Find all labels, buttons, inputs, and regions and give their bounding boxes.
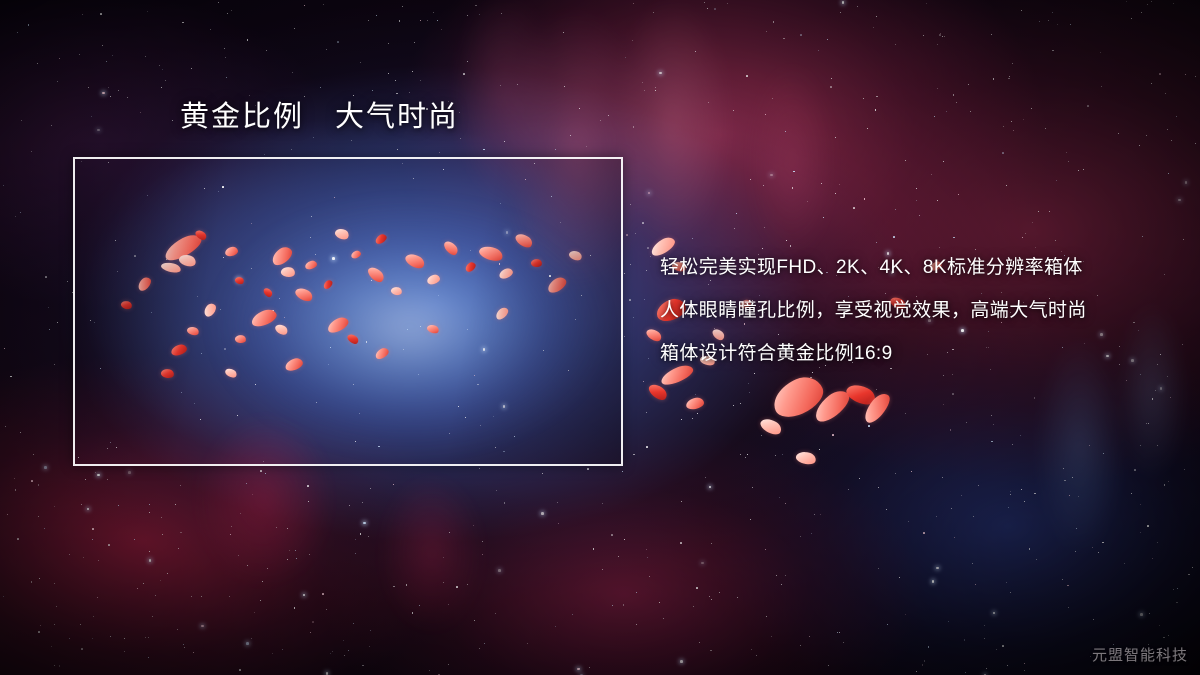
feature-line-2: 人体眼睛瞳孔比例，享受视觉效果，高端大气时尚 <box>660 301 1160 320</box>
product-image <box>75 159 621 464</box>
presentation-slide: 黄金比例 大气时尚 轻松完美实现FHD、2K、4K、8K标准分辨率箱体 人体眼睛… <box>0 0 1200 675</box>
feature-line-1: 轻松完美实现FHD、2K、4K、8K标准分辨率箱体 <box>660 258 1160 277</box>
product-image-frame[interactable] <box>73 157 623 466</box>
feature-line-3: 箱体设计符合黄金比例16:9 <box>660 344 1160 363</box>
framed-image-shading <box>75 159 621 464</box>
page-title: 黄金比例 大气时尚 <box>180 103 459 132</box>
watermark-brand: 元盟智能科技 <box>1092 644 1188 665</box>
feature-description: 轻松完美实现FHD、2K、4K、8K标准分辨率箱体 人体眼睛瞳孔比例，享受视觉效… <box>660 258 1160 363</box>
